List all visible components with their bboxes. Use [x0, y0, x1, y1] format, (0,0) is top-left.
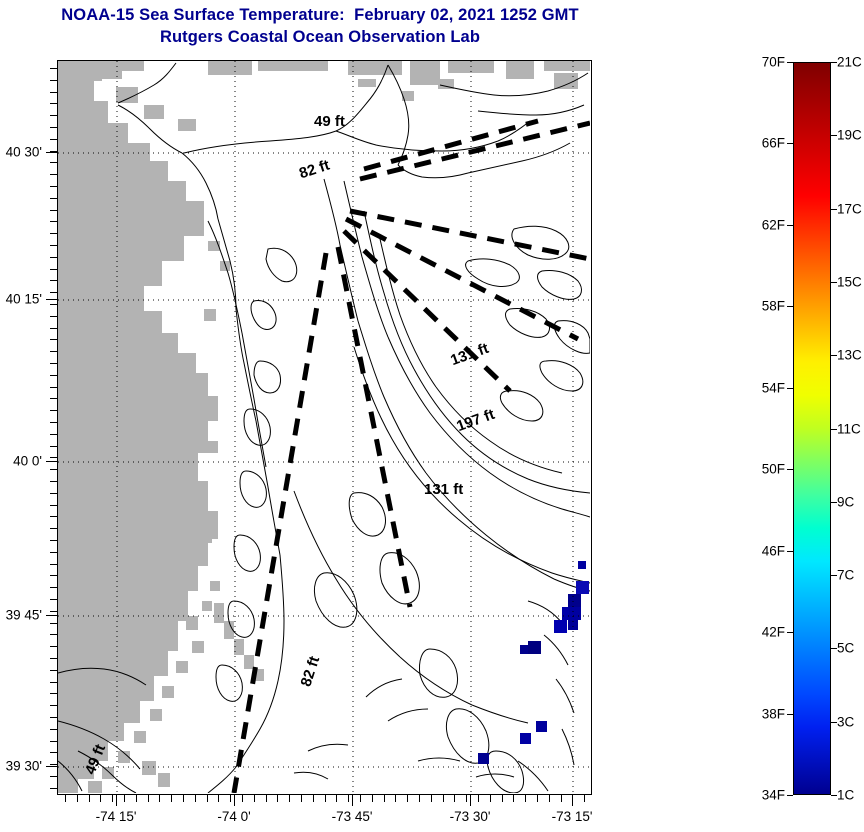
- x-axis-minor-tick: [360, 795, 361, 802]
- sst-map-page: NOAA-15 Sea Surface Temperature: Februar…: [0, 0, 864, 832]
- x-axis-minor-tick: [195, 795, 196, 802]
- x-axis-minor-tick: [242, 795, 243, 802]
- y-axis-minor-tick: [50, 127, 57, 128]
- y-axis-minor-tick: [50, 776, 57, 777]
- y-axis-minor-tick: [50, 646, 57, 647]
- y-axis-minor-tick: [50, 623, 57, 624]
- y-axis-major-tick: [46, 766, 57, 767]
- y-axis-minor-tick: [50, 434, 57, 435]
- x-axis-major-tick: [234, 795, 235, 806]
- x-axis-major-tick: [572, 795, 573, 806]
- colorbar-label-fahrenheit: 54F: [733, 381, 785, 396]
- x-axis-minor-tick: [384, 795, 385, 802]
- colorbar-tick-f: [787, 62, 793, 63]
- colorbar-label-fahrenheit: 38F: [733, 707, 785, 722]
- y-axis-label: 40 15': [0, 292, 42, 307]
- x-axis-minor-tick: [466, 795, 467, 802]
- colorbar-label-fahrenheit: 70F: [733, 55, 785, 70]
- x-axis-major-tick: [352, 795, 353, 806]
- x-axis-minor-tick: [336, 795, 337, 802]
- y-axis-minor-tick: [50, 670, 57, 671]
- x-axis-minor-tick: [549, 795, 550, 802]
- x-axis-minor-tick: [218, 795, 219, 802]
- y-axis-minor-tick: [50, 575, 57, 576]
- y-axis-minor-tick: [50, 682, 57, 683]
- y-axis-minor-tick: [50, 198, 57, 199]
- colorbar-label-fahrenheit: 50F: [733, 462, 785, 477]
- x-axis-minor-tick: [112, 795, 113, 802]
- y-axis-minor-tick: [50, 658, 57, 659]
- title-line-1: NOAA-15 Sea Surface Temperature: Februar…: [0, 4, 640, 26]
- y-axis-minor-tick: [50, 469, 57, 470]
- colorbar-label-celsius: 21C: [837, 55, 862, 70]
- colorbar-label-celsius: 11C: [837, 422, 861, 437]
- x-axis-major-tick: [116, 795, 117, 806]
- y-axis-minor-tick: [50, 162, 57, 163]
- y-axis-minor-tick: [50, 221, 57, 222]
- y-axis-minor-tick: [50, 788, 57, 789]
- colorbar-label-celsius: 19C: [837, 128, 862, 143]
- x-axis-minor-tick: [254, 795, 255, 802]
- colorbar-label-fahrenheit: 46F: [733, 544, 785, 559]
- colorbar-label-celsius: 15C: [837, 275, 862, 290]
- y-axis-minor-tick: [50, 422, 57, 423]
- y-axis-minor-tick: [50, 457, 57, 458]
- colorbar-label-fahrenheit: 34F: [733, 788, 785, 803]
- colorbar-label-celsius: 9C: [837, 495, 854, 510]
- x-axis-label: -73 15': [552, 809, 593, 824]
- x-axis-major-tick: [470, 795, 471, 806]
- y-axis-minor-tick: [50, 752, 57, 753]
- y-axis-minor-tick: [50, 717, 57, 718]
- colorbar-gradient: [793, 62, 831, 795]
- y-axis-minor-tick: [50, 292, 57, 293]
- y-axis-minor-tick: [50, 351, 57, 352]
- y-axis-minor-tick: [50, 528, 57, 529]
- colorbar-label-celsius: 17C: [837, 202, 862, 217]
- x-axis-minor-tick: [348, 795, 349, 802]
- y-axis-major-tick: [46, 152, 57, 153]
- y-axis-minor-tick: [50, 741, 57, 742]
- map-graphics: [58, 61, 590, 793]
- x-axis-label: -73 45': [332, 809, 373, 824]
- y-axis-minor-tick: [50, 611, 57, 612]
- x-axis-minor-tick: [419, 795, 420, 802]
- x-axis-minor-tick: [431, 795, 432, 802]
- x-axis-minor-tick: [65, 795, 66, 802]
- colorbar-tick-f: [787, 714, 793, 715]
- x-axis-minor-tick: [325, 795, 326, 802]
- y-axis-minor-tick: [50, 505, 57, 506]
- x-axis-minor-tick: [561, 795, 562, 802]
- y-axis-minor-tick: [50, 398, 57, 399]
- y-axis-minor-tick: [50, 493, 57, 494]
- x-axis-minor-tick: [407, 795, 408, 802]
- x-axis-minor-tick: [148, 795, 149, 802]
- y-axis-minor-tick: [50, 174, 57, 175]
- colorbar-label-fahrenheit: 58F: [733, 299, 785, 314]
- y-axis-minor-tick: [50, 705, 57, 706]
- x-axis-minor-tick: [443, 795, 444, 802]
- x-axis-minor-tick: [100, 795, 101, 802]
- y-axis-minor-tick: [50, 387, 57, 388]
- y-axis-label: 40 30': [0, 145, 42, 160]
- y-axis-minor-tick: [50, 245, 57, 246]
- x-axis-minor-tick: [289, 795, 290, 802]
- y-axis-minor-tick: [50, 328, 57, 329]
- colorbar[interactable]: [793, 62, 831, 795]
- x-axis-label: -73 30': [450, 809, 491, 824]
- y-axis-minor-tick: [50, 729, 57, 730]
- y-axis-major-tick: [46, 615, 57, 616]
- x-axis-label: -74 15': [96, 809, 137, 824]
- x-axis-minor-tick: [89, 795, 90, 802]
- x-axis-minor-tick: [478, 795, 479, 802]
- colorbar-label-fahrenheit: 62F: [733, 218, 785, 233]
- colorbar-tick-f: [787, 225, 793, 226]
- x-axis-minor-tick: [313, 795, 314, 802]
- y-axis-minor-tick: [50, 540, 57, 541]
- x-axis-minor-tick: [171, 795, 172, 802]
- y-axis-minor-tick: [50, 316, 57, 317]
- x-axis-minor-tick: [395, 795, 396, 802]
- colorbar-tick-f: [787, 551, 793, 552]
- colorbar-label-celsius: 5C: [837, 641, 854, 656]
- colorbar-label-celsius: 3C: [837, 715, 854, 730]
- y-axis-minor-tick: [50, 186, 57, 187]
- y-axis-minor-tick: [50, 103, 57, 104]
- y-axis-minor-tick: [50, 516, 57, 517]
- x-axis-minor-tick: [525, 795, 526, 802]
- map-plot-area[interactable]: 49 ft 82 ft 131 ft 197 ft 131 ft 82 ft 4…: [57, 60, 592, 795]
- colorbar-label-celsius: 7C: [837, 568, 854, 583]
- y-axis-minor-tick: [50, 257, 57, 258]
- y-axis-major-tick: [46, 461, 57, 462]
- x-axis-minor-tick: [372, 795, 373, 802]
- y-axis-minor-tick: [50, 599, 57, 600]
- y-axis-minor-tick: [50, 233, 57, 234]
- y-axis-minor-tick: [50, 764, 57, 765]
- y-axis-minor-tick: [50, 269, 57, 270]
- x-axis-minor-tick: [537, 795, 538, 802]
- y-axis-minor-tick: [50, 210, 57, 211]
- x-axis-minor-tick: [159, 795, 160, 802]
- y-axis-minor-tick: [50, 375, 57, 376]
- colorbar-tick-f: [787, 388, 793, 389]
- x-axis-minor-tick: [266, 795, 267, 802]
- y-axis-label: 39 45': [0, 608, 42, 623]
- x-axis-minor-tick: [490, 795, 491, 802]
- y-axis-minor-tick: [50, 280, 57, 281]
- x-axis-minor-tick: [124, 795, 125, 802]
- colorbar-tick-f: [787, 306, 793, 307]
- y-axis-minor-tick: [50, 552, 57, 553]
- y-axis-minor-tick: [50, 363, 57, 364]
- x-axis-minor-tick: [77, 795, 78, 802]
- colorbar-label-celsius: 1C: [837, 788, 854, 803]
- colorbar-label-celsius: 13C: [837, 348, 862, 363]
- y-axis-minor-tick: [50, 587, 57, 588]
- y-axis-minor-tick: [50, 339, 57, 340]
- x-axis-minor-tick: [230, 795, 231, 802]
- y-axis-minor-tick: [50, 410, 57, 411]
- title-line-2: Rutgers Coastal Ocean Observation Lab: [0, 26, 640, 48]
- x-axis-minor-tick: [513, 795, 514, 802]
- y-axis-minor-tick: [50, 693, 57, 694]
- chart-title: NOAA-15 Sea Surface Temperature: Februar…: [0, 4, 640, 48]
- y-axis-minor-tick: [50, 481, 57, 482]
- y-axis-minor-tick: [50, 68, 57, 69]
- y-axis-minor-tick: [50, 115, 57, 116]
- x-axis-minor-tick: [502, 795, 503, 802]
- y-axis-major-tick: [46, 299, 57, 300]
- y-axis-minor-tick: [50, 446, 57, 447]
- y-axis-minor-tick: [50, 92, 57, 93]
- y-axis-minor-tick: [50, 139, 57, 140]
- y-axis-label: 40 0': [0, 454, 42, 469]
- x-axis-minor-tick: [277, 795, 278, 802]
- colorbar-tick-f: [787, 143, 793, 144]
- colorbar-tick-f: [787, 795, 793, 796]
- y-axis-minor-tick: [50, 634, 57, 635]
- x-axis-minor-tick: [207, 795, 208, 802]
- y-axis-minor-tick: [50, 564, 57, 565]
- x-axis-minor-tick: [183, 795, 184, 802]
- y-axis-minor-tick: [50, 304, 57, 305]
- colorbar-tick-f: [787, 632, 793, 633]
- x-axis-minor-tick: [584, 795, 585, 802]
- y-axis-label: 39 30': [0, 759, 42, 774]
- x-axis-minor-tick: [136, 795, 137, 802]
- y-axis-minor-tick: [50, 80, 57, 81]
- colorbar-tick-f: [787, 469, 793, 470]
- x-axis-minor-tick: [454, 795, 455, 802]
- x-axis-label: -74 0': [217, 809, 250, 824]
- colorbar-label-fahrenheit: 66F: [733, 136, 785, 151]
- colorbar-label-fahrenheit: 42F: [733, 625, 785, 640]
- x-axis-minor-tick: [301, 795, 302, 802]
